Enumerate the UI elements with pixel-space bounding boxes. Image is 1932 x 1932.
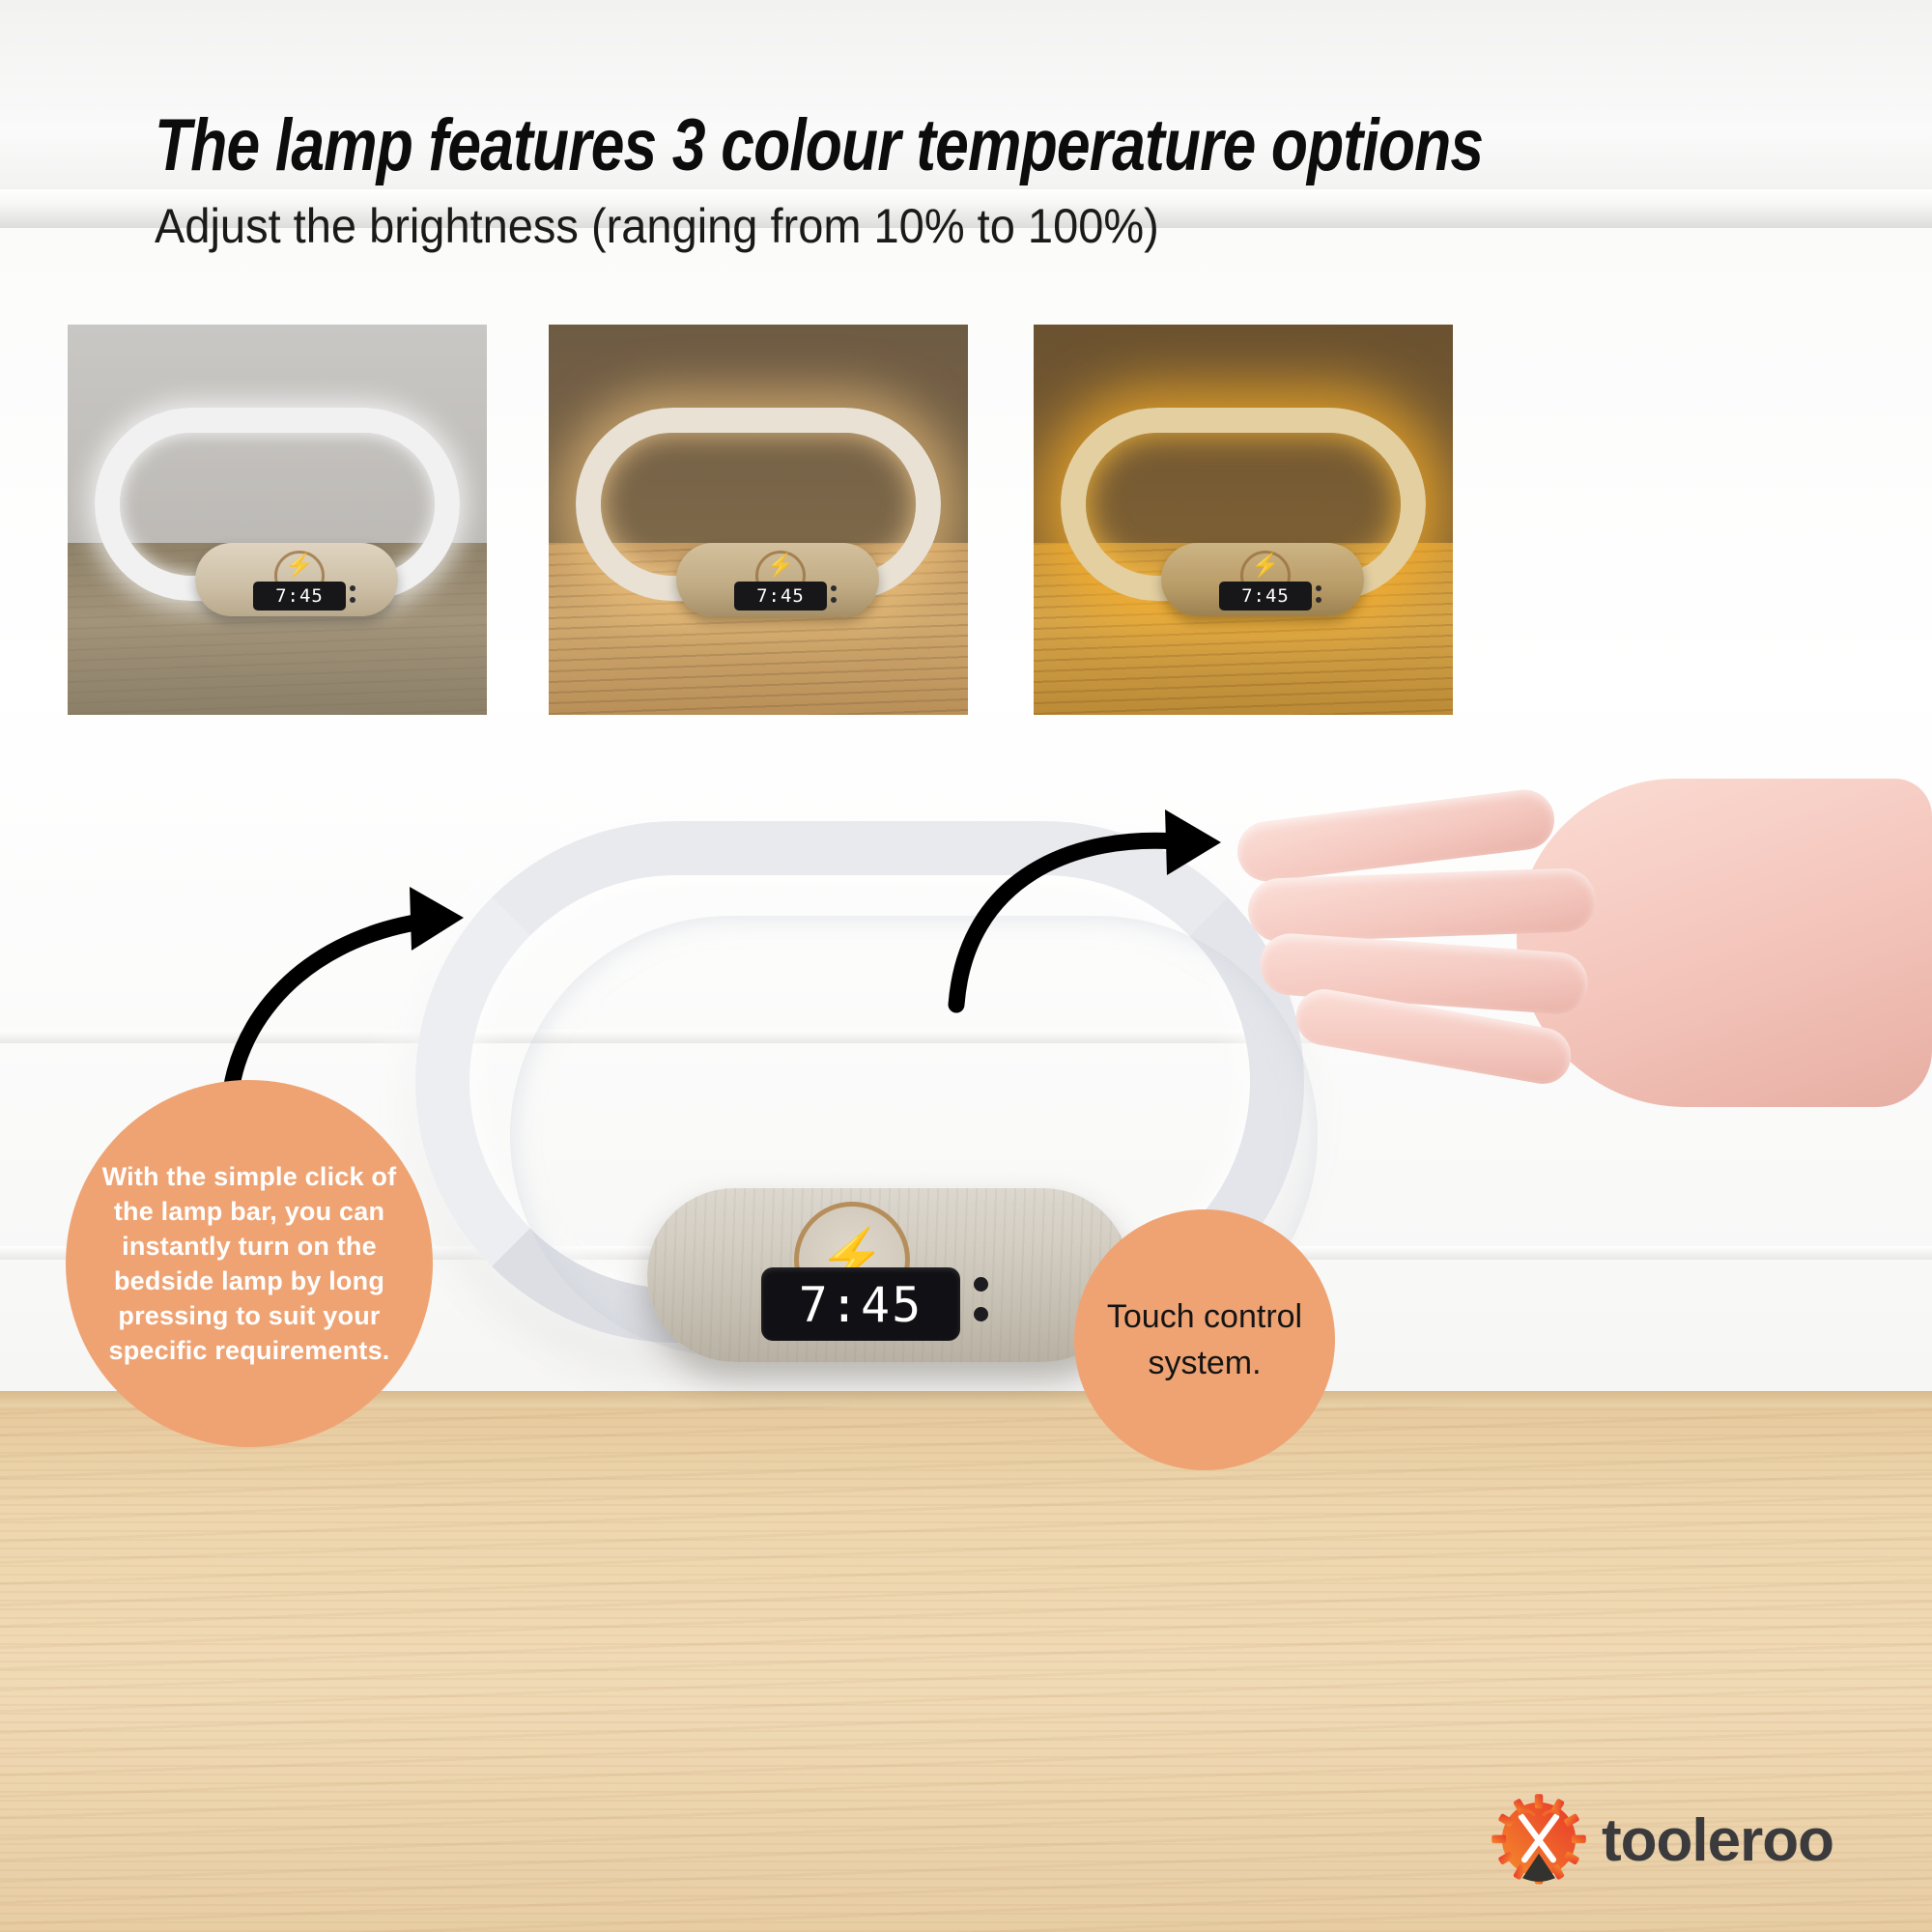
clock-display: 7:45: [1219, 582, 1312, 611]
control-buttons[interactable]: [974, 1277, 988, 1337]
lamp-base: 7:45: [195, 543, 398, 616]
finger-middle: [1247, 867, 1597, 944]
hand-illustration: [1227, 773, 1932, 1179]
thumb-lamp: 7:45: [576, 408, 941, 611]
brand-logo[interactable]: tooleroo: [1488, 1783, 1893, 1899]
control-buttons[interactable]: [350, 585, 363, 609]
infographic-page: The lamp features 3 colour temperature o…: [0, 0, 1932, 1932]
control-buttons[interactable]: [1316, 585, 1329, 609]
clock-time: 7:45: [1219, 582, 1312, 611]
clock-display: 7:45: [253, 582, 346, 611]
thumbnail-warm-white[interactable]: 7:45: [549, 325, 968, 715]
callout-touch-control: Touch control system.: [1074, 1209, 1335, 1470]
thumb-lamp: 7:45: [95, 408, 460, 611]
clock-time: 7:45: [761, 1267, 960, 1341]
gear-hammer-wrench-icon: [1488, 1790, 1590, 1892]
lamp-base: 7:45: [676, 543, 879, 616]
palm: [1517, 779, 1932, 1107]
clock-display: 7:45: [761, 1267, 960, 1341]
colour-temperature-gallery: 7:45 7:45: [0, 325, 1932, 715]
page-title: The lamp features 3 colour temperature o…: [155, 108, 1501, 184]
clock-display: 7:45: [734, 582, 827, 611]
lamp-base: 7:45: [1161, 543, 1364, 616]
page-subtitle: Adjust the brightness (ranging from 10% …: [155, 198, 1698, 254]
clock-time: 7:45: [734, 582, 827, 611]
callout-touch-control-text: Touch control system.: [1074, 1293, 1335, 1386]
control-buttons[interactable]: [831, 585, 844, 609]
clock-time: 7:45: [253, 582, 346, 611]
thumb-lamp: 7:45: [1061, 408, 1426, 611]
thumbnail-cool-white[interactable]: 7:45: [68, 325, 487, 715]
brand-name: tooleroo: [1602, 1790, 1833, 1892]
hero-lamp-base: ⚡ 7:45: [647, 1188, 1130, 1362]
callout-lamp-bar: With the simple click of the lamp bar, y…: [66, 1080, 433, 1447]
callout-lamp-bar-text: With the simple click of the lamp bar, y…: [66, 1159, 433, 1368]
thumbnail-amber[interactable]: 7:45: [1034, 325, 1453, 715]
